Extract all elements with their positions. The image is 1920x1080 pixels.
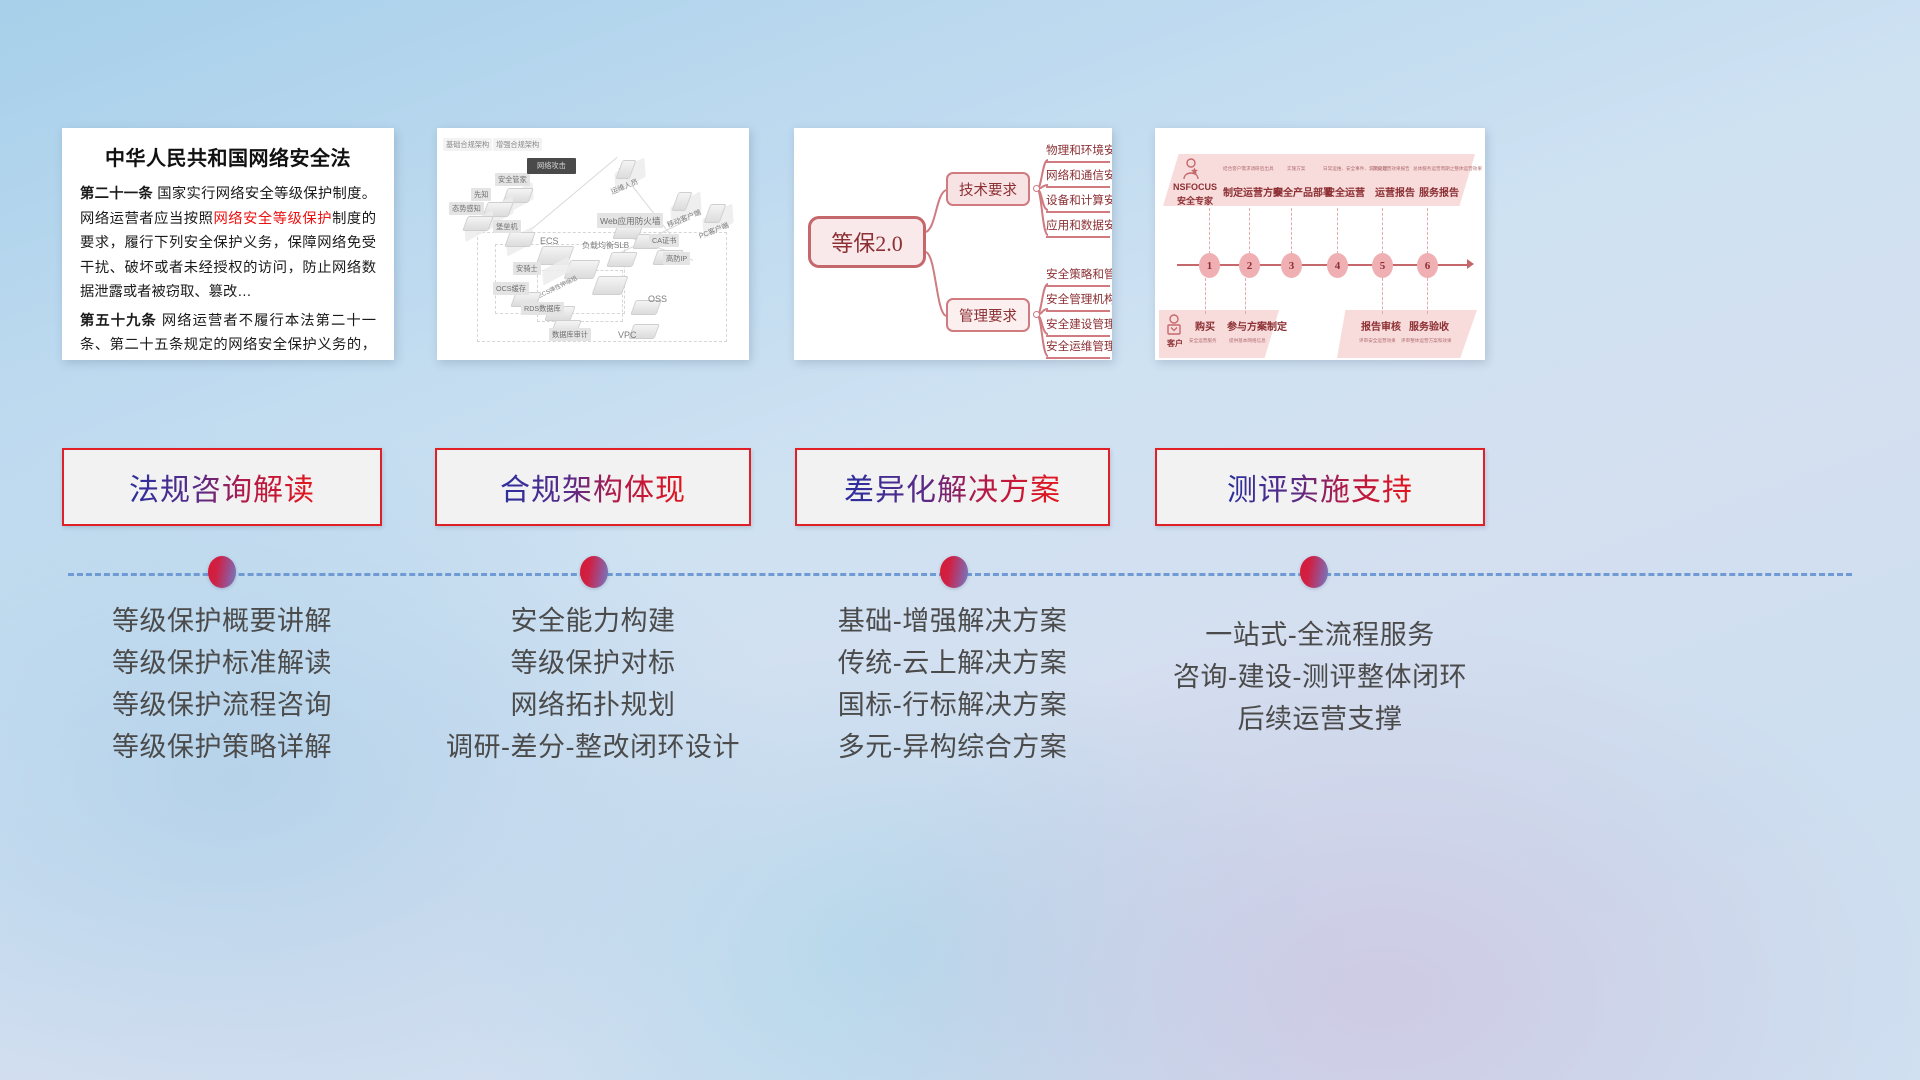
arch-label-anqishi: 安骑士: [513, 262, 541, 275]
customer-step-1-title: 购买: [1195, 318, 1215, 333]
feature-list-architecture: 安全能力构建 等级保护对标 网络拓扑规划 调研-差分-整改闭环设计: [420, 600, 766, 768]
arch-label-vpc: VPC: [615, 328, 640, 341]
step-leader-line: [1337, 208, 1338, 254]
arch-label-rds: RDS数据库: [521, 302, 564, 315]
arch-label-slb: 负载均衡SLB: [579, 238, 632, 252]
customer-step-4-sub: 评审整体运营方案和效果: [1401, 338, 1452, 344]
mindmap-leaf: 安全策略和管理制度: [1046, 266, 1110, 287]
timeline-step-node[interactable]: 3: [1281, 253, 1302, 278]
card-law-text[interactable]: 中华人民共和国网络安全法 第二十一条 国家实行网络安全等级保护制度。网络运营者应…: [62, 128, 394, 360]
service-timeline-canvas: NSFOCUS 安全专家 客户 结合客户需求调研后出具 制定运营方案 实施方案 …: [1155, 128, 1485, 360]
step-3-title: 安全产品部署: [1273, 184, 1333, 199]
list-item: 一站式-全流程服务: [1140, 614, 1500, 656]
expert-role-line1: NSFOCUS: [1173, 182, 1217, 192]
mindmap-joint-icon: [1033, 311, 1040, 318]
mindmap-leaf: 物理和环境安全: [1046, 142, 1110, 163]
preview-cards-row: 中华人民共和国网络安全法 第二十一条 国家实行网络安全等级保护制度。网络运营者应…: [0, 0, 1920, 460]
banner-compliance-architecture[interactable]: 合规架构体现: [435, 448, 751, 526]
timeline-marker-4[interactable]: [1300, 556, 1328, 588]
step-3-sub: 实施方案: [1287, 166, 1305, 172]
banner-label: 测评实施支持: [1227, 465, 1413, 509]
expert-role-line2: 安全专家: [1177, 194, 1213, 207]
timeline-step-node[interactable]: 1: [1199, 253, 1220, 278]
list-item: 国标-行标解决方案: [790, 684, 1115, 726]
list-item: 等级保护对标: [420, 642, 766, 684]
arch-label-oss: OSS: [645, 292, 670, 305]
arch-label-network-attack: 网络攻击: [527, 158, 576, 174]
banner-differentiated-solution[interactable]: 差异化解决方案: [795, 448, 1110, 526]
timeline-step-node[interactable]: 2: [1239, 253, 1260, 278]
mindmap-leaf: 安全运维管理: [1046, 338, 1110, 359]
feature-list-regulation: 等级保护概要讲解 等级保护标准解读 等级保护流程咨询 等级保护策略详解: [62, 600, 382, 768]
banner-regulation-consulting[interactable]: 法规咨询解读: [62, 448, 382, 526]
arch-label-ecs: ECS: [537, 234, 562, 247]
law-article-59-label: 第五十九条: [80, 313, 157, 329]
feature-list-solutions: 基础-增强解决方案 传统-云上解决方案 国标-行标解决方案 多元-异构综合方案: [790, 600, 1115, 768]
mindmap-branch-management[interactable]: 管理要求: [946, 298, 1030, 332]
banner-label: 合规架构体现: [500, 465, 686, 509]
timeline-arrow-icon: [1467, 259, 1474, 269]
timeline-marker-3[interactable]: [940, 556, 968, 588]
customer-step-3-title: 报告审核: [1361, 318, 1401, 333]
mindmap-root-node[interactable]: 等保2.0: [808, 216, 926, 268]
law-article-21-highlight: 网络安全等级保护: [213, 211, 332, 227]
card-mindmap-dengbao[interactable]: 等保2.0 技术要求 物理和环境安全 网络和通信安全 设备和计算安全 应用和数据…: [794, 128, 1112, 360]
timeline-step-node[interactable]: 5: [1372, 253, 1393, 278]
mindmap-leaf: 安全管理机构和人员: [1046, 291, 1110, 312]
mindmap-joint-icon: [1033, 185, 1040, 192]
list-item: 多元-异构综合方案: [790, 726, 1115, 768]
timeline-step-node[interactable]: 4: [1327, 253, 1348, 278]
step-leader-line: [1249, 208, 1250, 254]
card-service-timeline[interactable]: NSFOCUS 安全专家 客户 结合客户需求调研后出具 制定运营方案 实施方案 …: [1155, 128, 1485, 360]
mindmap-leaf: 安全建设管理: [1046, 316, 1110, 337]
step-leader-line: [1382, 278, 1383, 314]
list-item: 等级保护流程咨询: [62, 684, 382, 726]
customer-icon: [1165, 314, 1183, 336]
step-2-sub: 结合客户需求调研后出具: [1223, 166, 1274, 172]
arch-label-safe-butler: 安全管家: [495, 173, 530, 186]
mindmap-branch-technical[interactable]: 技术要求: [946, 172, 1030, 206]
timeline-marker-2[interactable]: [580, 556, 608, 588]
mindmap-leaf: 应用和数据安全: [1046, 217, 1110, 238]
law-article-59: 第五十九条 网络运营者不履行本法第二十一条、第二十五条规定的网络安全保护义务的，…: [80, 309, 376, 360]
mindmap-leaf: 设备和计算安全: [1046, 192, 1110, 213]
timeline-marker-1[interactable]: [208, 556, 236, 588]
step-leader-line: [1382, 208, 1383, 254]
step-6-title: 服务报告: [1419, 184, 1459, 199]
security-expert-icon: [1181, 158, 1201, 180]
banner-row: 法规咨询解读 合规架构体现 差异化解决方案 测评实施支持: [0, 448, 1920, 528]
customer-step-2-title: 参与方案制定: [1227, 318, 1287, 333]
list-item: 安全能力构建: [420, 600, 766, 642]
law-title: 中华人民共和国网络安全法: [80, 142, 376, 171]
arch-label-ca: CA证书: [649, 234, 679, 247]
list-item: 调研-差分-整改闭环设计: [420, 726, 766, 768]
customer-step-1-sub: 安全运营服务: [1189, 338, 1217, 344]
stage-timeline: [0, 552, 1920, 596]
banner-label: 差异化解决方案: [844, 465, 1061, 509]
architecture-canvas: 基础合规架构 增强合规架构 安全管家 先知 态势感知 网络攻击: [437, 128, 749, 360]
arch-label-db-audit: 数据库审计: [549, 328, 591, 341]
feature-lists-row: 等级保护概要讲解 等级保护标准解读 等级保护流程咨询 等级保护策略详解 安全能力…: [0, 600, 1920, 900]
list-item: 等级保护概要讲解: [62, 600, 382, 642]
step-leader-line: [1245, 278, 1246, 314]
step-6-sub: 总体服务运营周期之整体运营效果: [1413, 166, 1482, 172]
arch-tab-enhanced[interactable]: 增强合规架构: [493, 138, 542, 151]
customer-band-right: [1337, 310, 1477, 358]
step-leader-line: [1427, 278, 1428, 314]
step-leader-line: [1427, 208, 1428, 254]
arch-label-waf: Web应用防火墙: [597, 213, 663, 228]
mindmap-canvas: 等保2.0 技术要求 物理和环境安全 网络和通信安全 设备和计算安全 应用和数据…: [794, 128, 1112, 360]
card-cloud-architecture[interactable]: 基础合规架构 增强合规架构 安全管家 先知 态势感知 网络攻击: [437, 128, 749, 360]
arch-node: [504, 232, 535, 247]
mindmap-leaf: 网络和通信安全: [1046, 167, 1110, 188]
banner-label: 法规咨询解读: [129, 465, 315, 509]
law-card-inner: 中华人民共和国网络安全法 第二十一条 国家实行网络安全等级保护制度。网络运营者应…: [62, 128, 394, 360]
step-leader-line: [1291, 208, 1292, 254]
arch-label-situational-awareness: 态势感知: [449, 202, 484, 215]
arch-label-ocs: OCS缓存: [493, 282, 529, 295]
arch-label-antiddos: 高防IP: [663, 252, 690, 265]
list-item: 传统-云上解决方案: [790, 642, 1115, 684]
feature-list-assessment: 一站式-全流程服务 咨询-建设-测评整体闭环 后续运营支撑: [1140, 614, 1500, 740]
arch-tab-basic[interactable]: 基础合规架构: [443, 138, 492, 151]
customer-role-label: 客户: [1167, 338, 1183, 349]
arch-node-slb: [606, 252, 637, 267]
list-item: 咨询-建设-测评整体闭环: [1140, 656, 1500, 698]
step-5-sub: 阶段运营效果报告: [1373, 166, 1410, 172]
customer-step-3-sub: 评审安全运营效果: [1359, 338, 1396, 344]
customer-step-4-title: 服务验收: [1409, 318, 1449, 333]
list-item: 网络拓扑规划: [420, 684, 766, 726]
step-leader-line: [1209, 208, 1210, 254]
step-4-title: 安全运营: [1325, 184, 1365, 199]
timeline-step-node[interactable]: 6: [1417, 253, 1438, 278]
list-item: 等级保护标准解读: [62, 642, 382, 684]
law-article-21: 第二十一条 国家实行网络安全等级保护制度。网络运营者应当按照网络安全等级保护制度…: [80, 182, 376, 305]
customer-step-2-sub: 提供基本网络信息: [1229, 338, 1266, 344]
list-item: 等级保护策略详解: [62, 726, 382, 768]
banner-assessment-support[interactable]: 测评实施支持: [1155, 448, 1485, 526]
step-leader-line: [1205, 278, 1206, 314]
arch-label-bastion: 堡垒机: [493, 220, 521, 233]
list-item: 后续运营支撑: [1140, 698, 1500, 740]
arch-label-xianzhi: 先知: [471, 188, 491, 201]
law-article-21-label: 第二十一条: [80, 186, 153, 202]
step-5-title: 运营报告: [1375, 184, 1415, 199]
arch-node: [462, 216, 493, 231]
list-item: 基础-增强解决方案: [790, 600, 1115, 642]
